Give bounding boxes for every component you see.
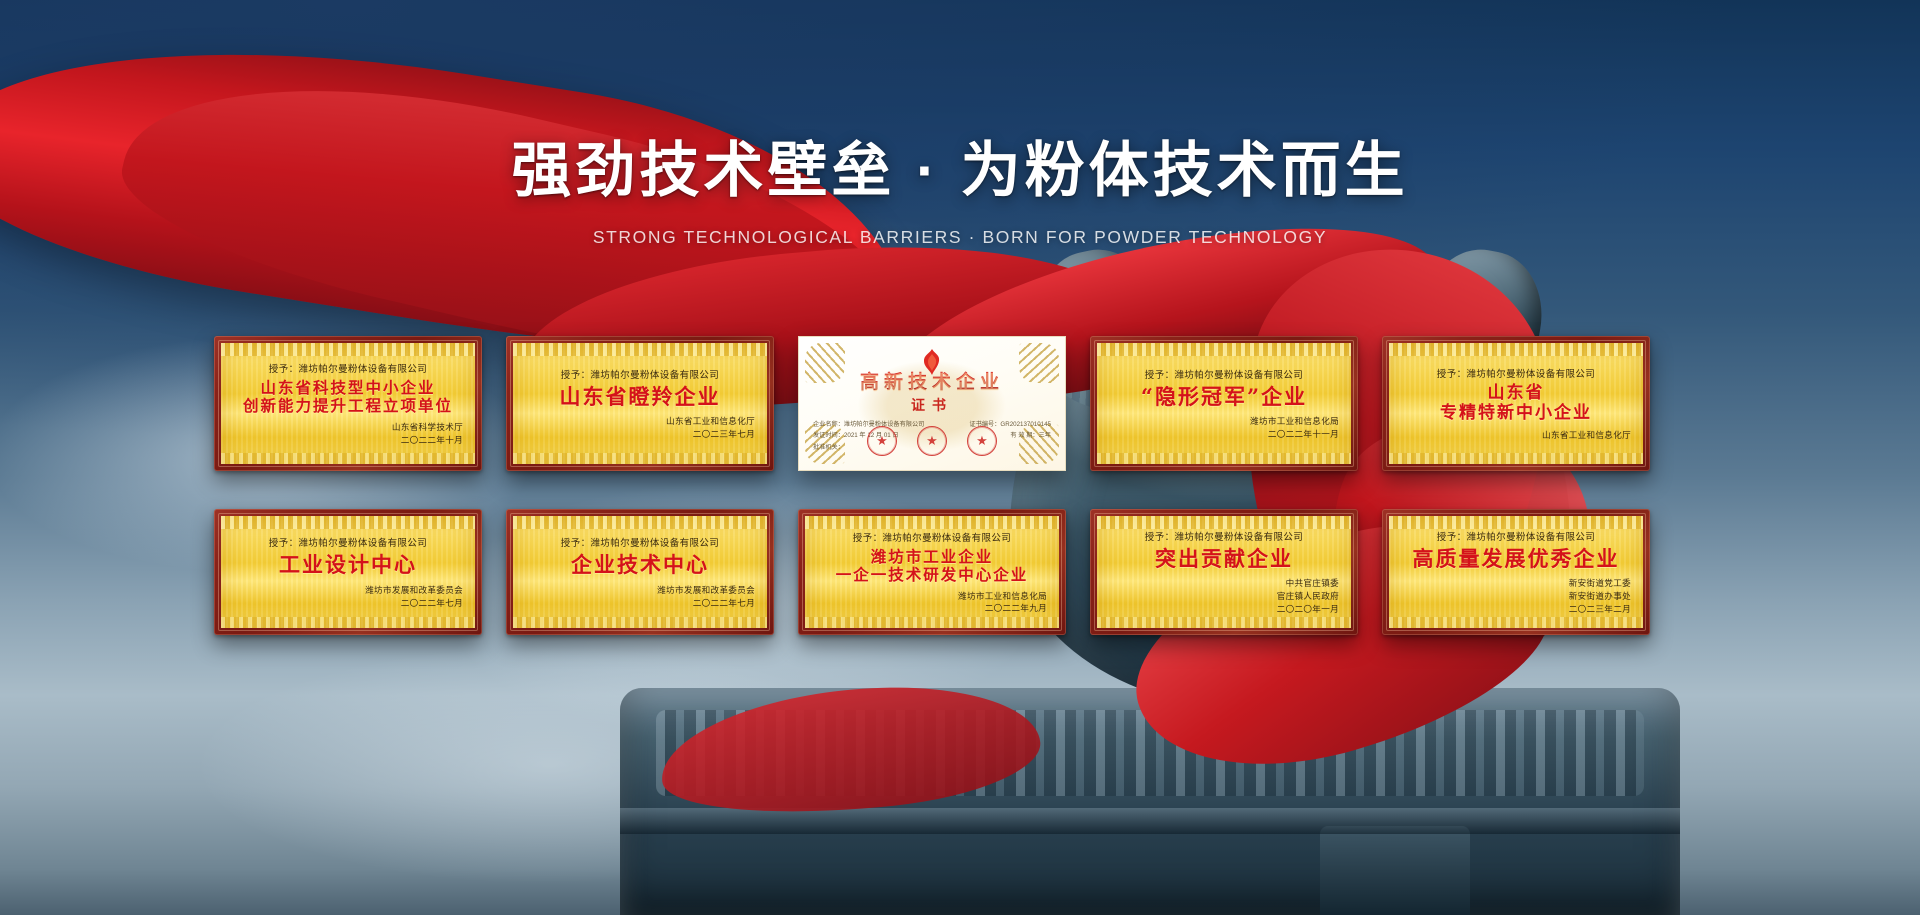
plaque-issuer-line: 二〇二二年九月 [817, 602, 1047, 615]
plaque-title: 山东省瞪羚企业 [525, 385, 755, 409]
plaque-award-to: 授予：潍坊帕尔曼粉体设备有限公司 [817, 530, 1047, 544]
plaque-gold-panel: 授予：潍坊帕尔曼粉体设备有限公司 “隐形冠军”企业 潍坊市工业和信息化局二〇二二… [1097, 343, 1351, 464]
award-plaque[interactable]: 授予：潍坊帕尔曼粉体设备有限公司 企业技术中心 潍坊市发展和改革委员会二〇二二年… [506, 509, 774, 635]
official-seal-icon: ★ [967, 426, 997, 456]
plaque-issuer-line: 二〇二三年二月 [1401, 603, 1631, 616]
plaque-issuer-line: 二〇二二年十月 [233, 434, 463, 447]
plaque-award-to: 授予：潍坊帕尔曼粉体设备有限公司 [525, 367, 755, 381]
plaque-issuer-line: 潍坊市工业和信息化局 [817, 590, 1047, 603]
award-slot: 授予：潍坊帕尔曼粉体设备有限公司 山东省瞪羚企业 山东省工业和信息化厅二〇二三年… [506, 336, 774, 471]
plaque-issuer-line: 潍坊市工业和信息化局 [1109, 415, 1339, 428]
plaque-issuer-line: 二〇二〇年一月 [1109, 603, 1339, 616]
plaque-issuer-line: 潍坊市发展和改革委员会 [525, 584, 755, 597]
award-plaque[interactable]: 授予：潍坊帕尔曼粉体设备有限公司 山东省瞪羚企业 山东省工业和信息化厅二〇二三年… [506, 336, 774, 471]
plaque-gold-panel: 授予：潍坊帕尔曼粉体设备有限公司 山东省专精特新中小企业 山东省工业和信息化厅 [1389, 343, 1643, 464]
plaque-title-line: 企业技术中心 [525, 553, 755, 577]
plaque-issuer: 新安街道党工委新安街道办事处二〇二三年二月 [1401, 577, 1631, 616]
plaque-silk-texture [513, 453, 767, 464]
award-slot: 授予：潍坊帕尔曼粉体设备有限公司 工业设计中心 潍坊市发展和改革委员会二〇二二年… [214, 509, 482, 635]
plaque-issuer-line: 山东省科学技术厅 [233, 421, 463, 434]
bronze-vessel-base [620, 688, 1680, 915]
plaque-silk-texture [1389, 453, 1643, 464]
plaque-issuer: 潍坊市发展和改革委员会二〇二二年七月 [233, 584, 463, 610]
plaque-issuer-line: 官庄镇人民政府 [1109, 590, 1339, 603]
award-plaque[interactable]: 授予：潍坊帕尔曼粉体设备有限公司 山东省专精特新中小企业 山东省工业和信息化厅 [1382, 336, 1650, 471]
award-wall: 授予：潍坊帕尔曼粉体设备有限公司 山东省科技型中小企业创新能力提升工程立项单位 … [214, 336, 1754, 635]
award-slot: 授予：潍坊帕尔曼粉体设备有限公司 山东省科技型中小企业创新能力提升工程立项单位 … [214, 336, 482, 471]
plaque-title-line: 山东省 [1401, 384, 1631, 404]
plaque-award-to: 授予：潍坊帕尔曼粉体设备有限公司 [1109, 367, 1339, 381]
plaque-title: 高质量发展优秀企业 [1401, 547, 1631, 571]
plaque-issuer-line: 中共官庄镇委 [1109, 577, 1339, 590]
plaque-gold-panel: 授予：潍坊帕尔曼粉体设备有限公司 潍坊市工业企业一企一技术研发中心企业 潍坊市工… [805, 516, 1059, 628]
plaque-issuer-line: 潍坊市发展和改革委员会 [233, 584, 463, 597]
plaque-issuer-line: 山东省工业和信息化厅 [1401, 429, 1631, 442]
plaque-silk-texture [1097, 453, 1351, 464]
certificate-seals: ★★★ [799, 426, 1065, 456]
page-subtitle: STRONG TECHNOLOGICAL BARRIERS · BORN FOR… [0, 227, 1920, 248]
plaque-title: 山东省科技型中小企业创新能力提升工程立项单位 [233, 379, 463, 415]
plaque-title-line: 突出贡献企业 [1109, 547, 1339, 571]
banner-heading-block: 强劲技术壁垒 · 为粉体技术而生 STRONG TECHNOLOGICAL BA… [0, 136, 1920, 248]
plaque-title-line: 专精特新中小企业 [1401, 404, 1631, 424]
award-slot: 授予：潍坊帕尔曼粉体设备有限公司 企业技术中心 潍坊市发展和改革委员会二〇二二年… [506, 509, 774, 635]
plaque-title-line: 山东省瞪羚企业 [525, 385, 755, 409]
official-seal-icon: ★ [867, 426, 897, 456]
plaque-title: 突出贡献企业 [1109, 547, 1339, 571]
plaque-issuer-line: 二〇二二年十一月 [1109, 428, 1339, 441]
plaque-issuer: 山东省科学技术厅二〇二二年十月 [233, 421, 463, 447]
award-slot: 授予：潍坊帕尔曼粉体设备有限公司 潍坊市工业企业一企一技术研发中心企业 潍坊市工… [798, 509, 1066, 635]
award-row-2: 授予：潍坊帕尔曼粉体设备有限公司 工业设计中心 潍坊市发展和改革委员会二〇二二年… [214, 509, 1754, 635]
plaque-award-to: 授予：潍坊帕尔曼粉体设备有限公司 [233, 535, 463, 549]
plaque-issuer: 潍坊市工业和信息化局二〇二二年十一月 [1109, 415, 1339, 441]
certificate-subtitle: 证书 [799, 395, 1065, 415]
award-plaque[interactable]: 授予：潍坊帕尔曼粉体设备有限公司 突出贡献企业 中共官庄镇委官庄镇人民政府二〇二… [1090, 509, 1358, 635]
plaque-gold-panel: 授予：潍坊帕尔曼粉体设备有限公司 企业技术中心 潍坊市发展和改革委员会二〇二二年… [513, 516, 767, 628]
plaque-title: 山东省专精特新中小企业 [1401, 384, 1631, 423]
plaque-title-line: 工业设计中心 [233, 553, 463, 577]
plaque-silk-texture [1389, 617, 1643, 628]
plaque-issuer-line: 二〇二二年七月 [525, 597, 755, 610]
plaque-silk-texture [221, 617, 475, 628]
award-plaque[interactable]: 授予：潍坊帕尔曼粉体设备有限公司 工业设计中心 潍坊市发展和改革委员会二〇二二年… [214, 509, 482, 635]
certificate-title: 高新技术企业 [799, 367, 1065, 394]
award-row-1: 授予：潍坊帕尔曼粉体设备有限公司 山东省科技型中小企业创新能力提升工程立项单位 … [214, 336, 1754, 471]
plaque-title-line: 潍坊市工业企业 [817, 548, 1047, 566]
plaque-title: “隐形冠军”企业 [1109, 385, 1339, 409]
plaque-issuer: 山东省工业和信息化厅 [1401, 429, 1631, 442]
plaque-title-line: 一企一技术研发中心企业 [817, 566, 1047, 584]
plaque-title: 工业设计中心 [233, 553, 463, 577]
award-plaque[interactable]: 授予：潍坊帕尔曼粉体设备有限公司 潍坊市工业企业一企一技术研发中心企业 潍坊市工… [798, 509, 1066, 635]
plaque-gold-panel: 授予：潍坊帕尔曼粉体设备有限公司 山东省科技型中小企业创新能力提升工程立项单位 … [221, 343, 475, 464]
award-slot: 授予：潍坊帕尔曼粉体设备有限公司 高质量发展优秀企业 新安街道党工委新安街道办事… [1382, 509, 1650, 635]
award-slot: 高新技术企业 证书 企业名称：潍坊帕尔曼粉体设备有限公司证书编号：GR20213… [798, 336, 1066, 471]
plaque-issuer-line: 新安街道办事处 [1401, 590, 1631, 603]
award-plaque[interactable]: 授予：潍坊帕尔曼粉体设备有限公司 高质量发展优秀企业 新安街道党工委新安街道办事… [1382, 509, 1650, 635]
plaque-silk-texture [1097, 617, 1351, 628]
award-plaque[interactable]: 授予：潍坊帕尔曼粉体设备有限公司 “隐形冠军”企业 潍坊市工业和信息化局二〇二二… [1090, 336, 1358, 471]
plaque-award-to: 授予：潍坊帕尔曼粉体设备有限公司 [1109, 529, 1339, 543]
plaque-award-to: 授予：潍坊帕尔曼粉体设备有限公司 [1401, 529, 1631, 543]
plaque-gold-panel: 授予：潍坊帕尔曼粉体设备有限公司 高质量发展优秀企业 新安街道党工委新安街道办事… [1389, 516, 1643, 628]
plaque-issuer-line: 二〇二三年七月 [525, 428, 755, 441]
plaque-title-line: 创新能力提升工程立项单位 [233, 397, 463, 415]
plaque-gold-panel: 授予：潍坊帕尔曼粉体设备有限公司 工业设计中心 潍坊市发展和改革委员会二〇二二年… [221, 516, 475, 628]
award-slot: 授予：潍坊帕尔曼粉体设备有限公司 “隐形冠军”企业 潍坊市工业和信息化局二〇二二… [1090, 336, 1358, 471]
plaque-issuer-line: 新安街道党工委 [1401, 577, 1631, 590]
plaque-issuer: 中共官庄镇委官庄镇人民政府二〇二〇年一月 [1109, 577, 1339, 616]
certificate-high-tech-enterprise[interactable]: 高新技术企业 证书 企业名称：潍坊帕尔曼粉体设备有限公司证书编号：GR20213… [798, 336, 1066, 471]
plaque-issuer: 山东省工业和信息化厅二〇二三年七月 [525, 415, 755, 441]
plaque-gold-panel: 授予：潍坊帕尔曼粉体设备有限公司 山东省瞪羚企业 山东省工业和信息化厅二〇二三年… [513, 343, 767, 464]
plaque-award-to: 授予：潍坊帕尔曼粉体设备有限公司 [233, 361, 463, 375]
plaque-issuer-line: 二〇二二年七月 [233, 597, 463, 610]
plaque-gold-panel: 授予：潍坊帕尔曼粉体设备有限公司 突出贡献企业 中共官庄镇委官庄镇人民政府二〇二… [1097, 516, 1351, 628]
plaque-title-line: 高质量发展优秀企业 [1401, 547, 1631, 571]
plaque-award-to: 授予：潍坊帕尔曼粉体设备有限公司 [525, 535, 755, 549]
plaque-award-to: 授予：潍坊帕尔曼粉体设备有限公司 [1401, 366, 1631, 380]
plaque-silk-texture [221, 453, 475, 464]
page-title: 强劲技术壁垒 · 为粉体技术而生 [0, 136, 1920, 207]
banner-stage: 强劲技术壁垒 · 为粉体技术而生 STRONG TECHNOLOGICAL BA… [0, 0, 1920, 915]
plaque-issuer: 潍坊市发展和改革委员会二〇二二年七月 [525, 584, 755, 610]
plaque-issuer: 潍坊市工业和信息化局二〇二二年九月 [817, 590, 1047, 616]
official-seal-icon: ★ [917, 426, 947, 456]
award-slot: 授予：潍坊帕尔曼粉体设备有限公司 山东省专精特新中小企业 山东省工业和信息化厅 [1382, 336, 1650, 471]
award-plaque[interactable]: 授予：潍坊帕尔曼粉体设备有限公司 山东省科技型中小企业创新能力提升工程立项单位 … [214, 336, 482, 471]
plaque-title-line: 山东省科技型中小企业 [233, 379, 463, 397]
plaque-title: 企业技术中心 [525, 553, 755, 577]
plaque-title-line: “隐形冠军”企业 [1109, 385, 1339, 409]
plaque-issuer-line: 山东省工业和信息化厅 [525, 415, 755, 428]
plaque-silk-texture [805, 617, 1059, 628]
bronze-vessel-foot [1320, 826, 1470, 915]
plaque-silk-texture [513, 617, 767, 628]
award-slot: 授予：潍坊帕尔曼粉体设备有限公司 突出贡献企业 中共官庄镇委官庄镇人民政府二〇二… [1090, 509, 1358, 635]
plaque-title: 潍坊市工业企业一企一技术研发中心企业 [817, 548, 1047, 584]
